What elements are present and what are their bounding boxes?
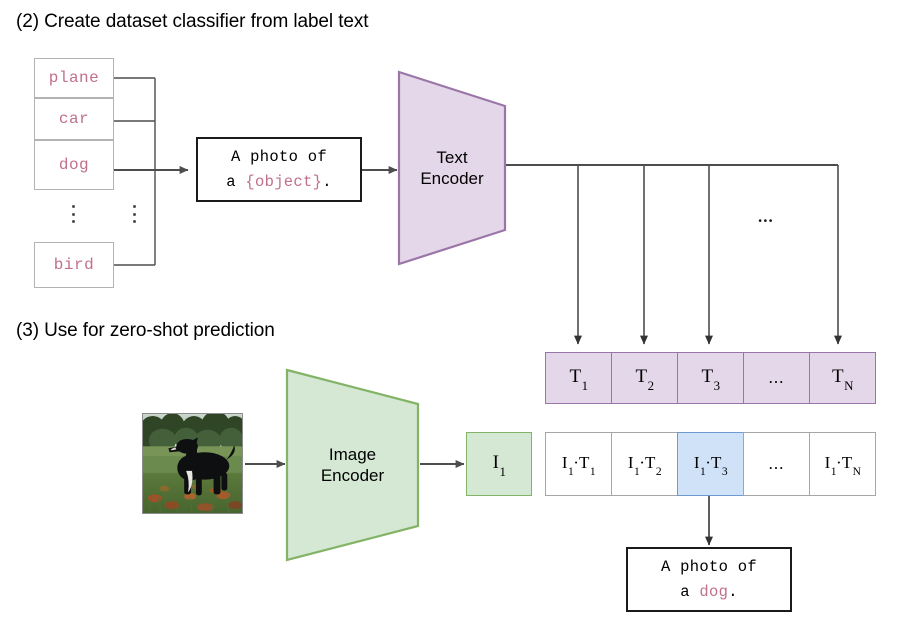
similarity-cell-1[interactable]: I1·T1 bbox=[545, 432, 612, 496]
prompt-line-2-prefix: a bbox=[226, 173, 245, 191]
prediction-line-1: A photo of bbox=[661, 555, 757, 579]
text-embedding-cell-n[interactable]: TN bbox=[809, 352, 876, 404]
label-text: bird bbox=[54, 256, 94, 274]
text-embedding-cell-ellipsis: ... bbox=[743, 352, 810, 404]
similarity-label: I1·T3 bbox=[694, 453, 727, 475]
text-encoder[interactable]: Text Encoder bbox=[397, 70, 507, 266]
similarity-cell-3-selected[interactable]: I1·T3 bbox=[677, 432, 744, 496]
section-3-title: (3) Use for zero-shot prediction bbox=[16, 320, 275, 342]
text-embedding-label: T1 bbox=[569, 366, 587, 391]
text-embedding-cell-2[interactable]: T2 bbox=[611, 352, 678, 404]
prediction-class-slot: dog bbox=[699, 583, 728, 601]
prompt-template-box[interactable]: A photo of a {object}. bbox=[196, 137, 362, 202]
text-bus-ellipsis: ... bbox=[758, 208, 774, 225]
similarity-label: I1·TN bbox=[825, 453, 861, 475]
label-box-plane[interactable]: plane bbox=[34, 58, 114, 98]
label-box-dog[interactable]: dog bbox=[34, 140, 114, 190]
prompt-line-1: A photo of bbox=[231, 145, 327, 169]
prediction-box[interactable]: A photo of a dog. bbox=[626, 547, 792, 612]
label-text: plane bbox=[49, 69, 100, 87]
prediction-line-2: a dog. bbox=[680, 580, 738, 604]
text-embedding-label: T2 bbox=[635, 366, 653, 391]
similarity-cell-n[interactable]: I1·TN bbox=[809, 432, 876, 496]
prompt-line-2-suffix: . bbox=[322, 173, 332, 191]
ellipsis-label: ... bbox=[769, 454, 785, 474]
section-2-title: (2) Create dataset classifier from label… bbox=[16, 11, 368, 33]
similarity-label: I1·T1 bbox=[562, 453, 595, 475]
image-encoder[interactable]: Image Encoder bbox=[285, 368, 420, 562]
similarity-label: I1·T2 bbox=[628, 453, 661, 475]
text-embedding-cell-3[interactable]: T3 bbox=[677, 352, 744, 404]
image-encoder-shape bbox=[285, 368, 420, 562]
prompt-object-slot: {object} bbox=[245, 173, 322, 191]
image-embedding-label: I1 bbox=[493, 452, 506, 477]
similarity-cell-ellipsis: ... bbox=[743, 432, 810, 496]
label-box-car[interactable]: car bbox=[34, 98, 114, 140]
text-embedding-label: T3 bbox=[701, 366, 719, 391]
text-embedding-label: TN bbox=[832, 366, 853, 391]
input-photo[interactable] bbox=[142, 413, 243, 514]
clip-diagram: (2) Create dataset classifier from label… bbox=[0, 0, 906, 624]
label-box-bird[interactable]: bird bbox=[34, 242, 114, 288]
text-embedding-cell-1[interactable]: T1 bbox=[545, 352, 612, 404]
label-list-ellipsis-icon bbox=[72, 205, 76, 223]
label-text: car bbox=[59, 110, 89, 128]
prediction-line-2-prefix: a bbox=[680, 583, 699, 601]
ellipsis-label: ... bbox=[769, 368, 785, 388]
similarity-cell-2[interactable]: I1·T2 bbox=[611, 432, 678, 496]
label-bus-ellipsis-icon bbox=[133, 205, 137, 223]
text-encoder-shape bbox=[397, 70, 507, 266]
prediction-line-2-suffix: . bbox=[728, 583, 738, 601]
prompt-line-2: a {object}. bbox=[226, 170, 332, 194]
image-embedding-cell[interactable]: I1 bbox=[466, 432, 532, 496]
label-text: dog bbox=[59, 156, 89, 174]
photo-artwork bbox=[143, 414, 242, 513]
